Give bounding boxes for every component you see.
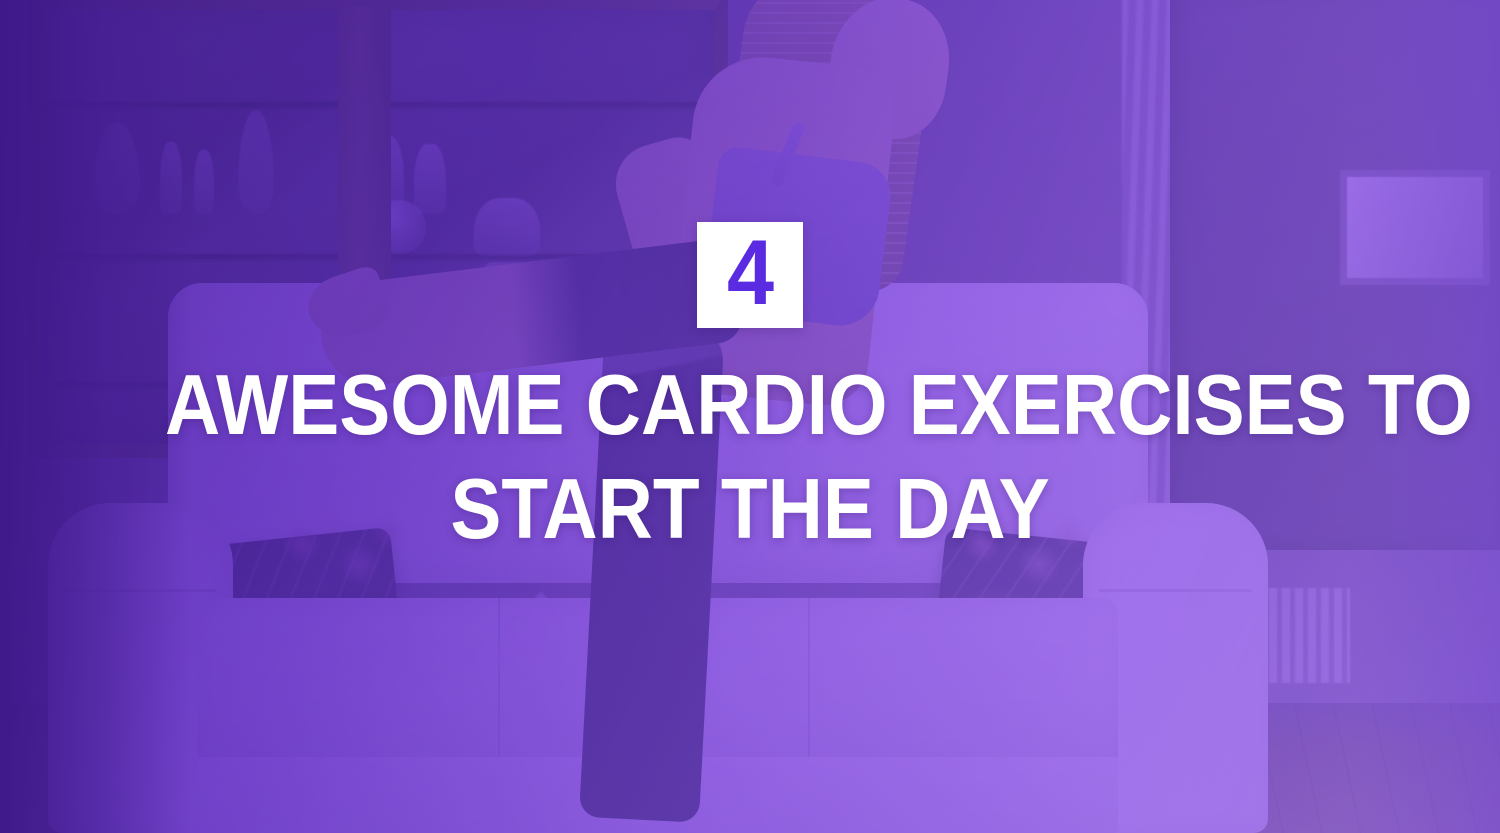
promo-banner: ERCI 4 AWESOME CARDIO EXERCISES TO START… xyxy=(0,0,1500,833)
page-title: AWESOME CARDIO EXERCISES TO START THE DA… xyxy=(100,354,1400,561)
number-four-badge: 4 xyxy=(697,222,803,328)
number-four-label: 4 xyxy=(727,231,772,316)
headline-line-1: AWESOME CARDIO EXERCISES TO xyxy=(165,354,1335,458)
text-overlay: 4 AWESOME CARDIO EXERCISES TO START THE … xyxy=(0,0,1500,833)
headline-line-2: START THE DAY xyxy=(165,458,1335,562)
